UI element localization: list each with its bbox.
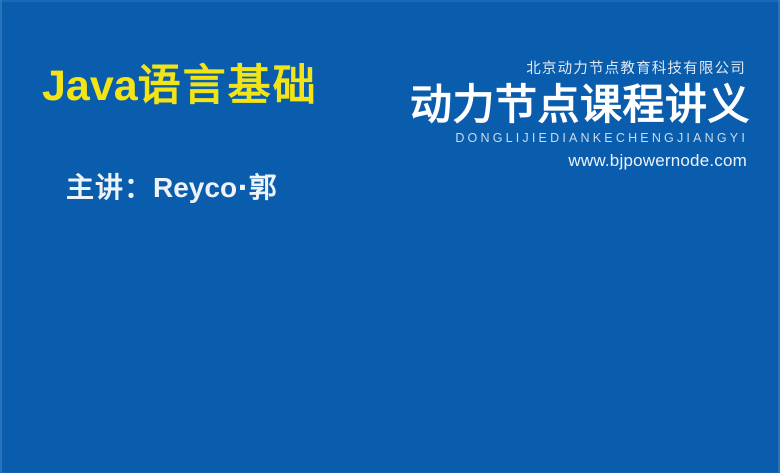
slide-left-edge [0, 0, 2, 473]
presenter-label: 主讲： [66, 171, 153, 204]
presenter-separator: · [237, 171, 249, 204]
title-block: Java语言基础 [42, 62, 372, 110]
brand-logo: 北京动力节点教育科技有限公司 动力节点课程讲义 DONGLIJIEDIANKEC… [395, 62, 750, 169]
presenter-name: Reyco [153, 172, 237, 203]
logo-pinyin: DONGLIJIEDIANKECHENGJIANGYI [395, 132, 750, 145]
slide-top-edge [0, 0, 780, 2]
title-chinese: 语言基础 [138, 61, 318, 111]
title-slide: Java语言基础 主讲：Reyco·郭 北京动力节点教育科技有限公司 动力节点课… [0, 0, 780, 473]
logo-wordmark: 动力节点课程讲义 [395, 83, 750, 128]
logo-company-name: 北京动力节点教育科技有限公司 [395, 62, 750, 77]
title-keyword: Java [42, 62, 138, 110]
page-title: Java语言基础 [42, 62, 372, 110]
logo-website-url: www.bjpowernode.com [395, 152, 750, 169]
presenter-line: 主讲：Reyco·郭 [66, 166, 278, 206]
presenter-surname: 郭 [249, 171, 278, 204]
